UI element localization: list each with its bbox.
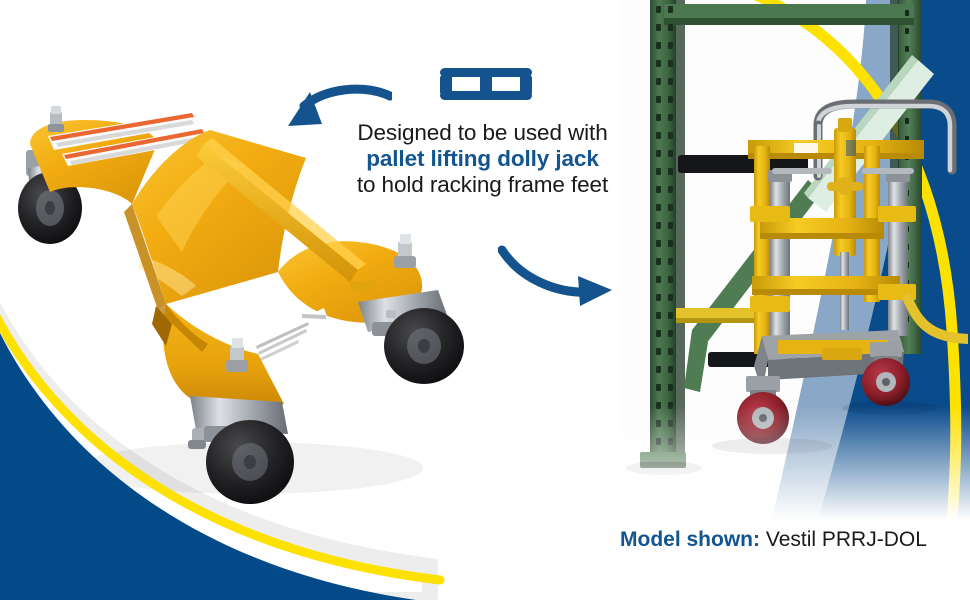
pallet-icon [440,68,532,102]
callout-line-3: to hold racking frame feet [340,172,625,198]
model-shown-value: Vestil PRRJ-DOL [766,528,927,551]
callout-text-block: Designed to be used with pallet lifting … [340,120,625,198]
callout-line-1: Designed to be used with [340,120,625,146]
model-shown-label: Model shown: [620,528,760,551]
product-feature-banner: Designed to be used with pallet lifting … [0,0,970,600]
callout-line-2-accent: pallet lifting dolly jack [340,146,625,172]
racking-frame-with-jack-photo [622,0,970,520]
arrow-to-rack-icon [498,244,620,306]
model-shown-caption: Model shown: Vestil PRRJ-DOL [620,528,960,552]
